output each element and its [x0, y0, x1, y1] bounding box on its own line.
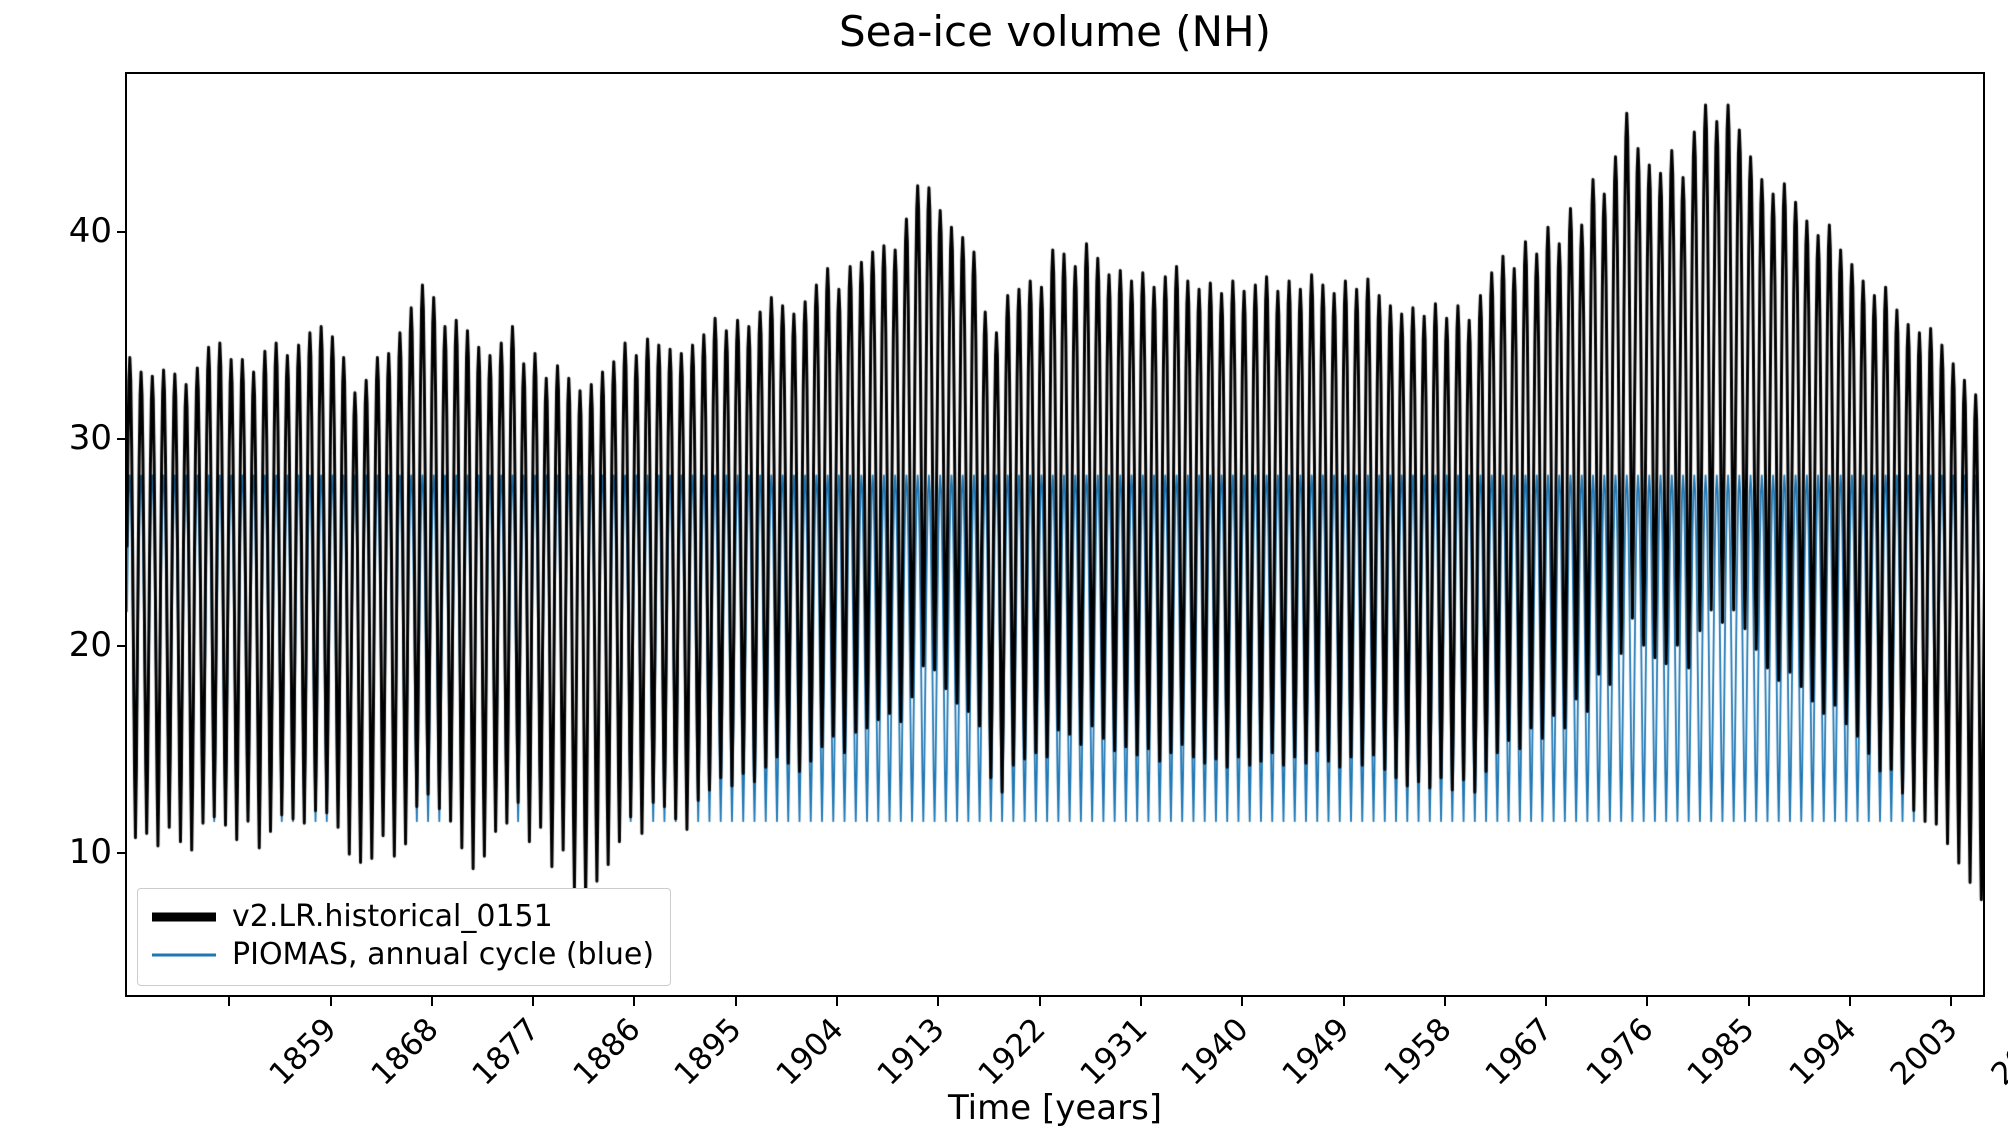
x-tick-label: 1940: [1175, 1012, 1255, 1092]
y-tick-label: 40: [0, 214, 112, 248]
y-tick-label: 20: [0, 628, 112, 662]
x-tick-mark: [228, 997, 230, 1006]
x-tick-mark: [330, 997, 332, 1006]
legend-line-swatch-0: [152, 905, 216, 929]
x-tick-mark: [1748, 997, 1750, 1006]
x-tick-label: 1859: [263, 1012, 343, 1092]
x-tick-label: 1949: [1276, 1012, 1356, 1092]
x-tick-mark: [1039, 997, 1041, 1006]
x-tick-label: 1967: [1479, 1012, 1559, 1092]
legend-item: v2.LR.historical_0151: [152, 898, 654, 936]
x-tick-mark: [1140, 997, 1142, 1006]
x-tick-label: 1913: [871, 1012, 951, 1092]
x-tick-mark: [633, 997, 635, 1006]
series-plot: [127, 74, 1983, 995]
x-tick-mark: [1950, 997, 1952, 1006]
legend-line-swatch-1: [152, 943, 216, 967]
x-tick-label: 2012: [1985, 1012, 2008, 1092]
x-tick-mark: [1343, 997, 1345, 1006]
legend: v2.LR.historical_0151 PIOMAS, annual cyc…: [137, 888, 671, 986]
y-tick-label: 10: [0, 835, 112, 869]
figure-canvas: Sea-ice volume (NH) [103 km3] 10203040 1…: [0, 0, 2008, 1141]
x-tick-mark: [836, 997, 838, 1006]
x-tick-label: 1931: [1074, 1012, 1154, 1092]
x-tick-label: 2003: [1884, 1012, 1964, 1092]
x-tick-mark: [1241, 997, 1243, 1006]
x-tick-mark: [1849, 997, 1851, 1006]
x-tick-label: 1958: [1378, 1012, 1458, 1092]
legend-item: PIOMAS, annual cycle (blue): [152, 936, 654, 974]
x-tick-mark: [431, 997, 433, 1006]
page-title: Sea-ice volume (NH): [125, 6, 1985, 58]
x-tick-label: 1877: [466, 1012, 546, 1092]
x-tick-label: 1895: [669, 1012, 749, 1092]
y-tick-label: 30: [0, 421, 112, 455]
x-tick-mark: [1545, 997, 1547, 1006]
legend-label: PIOMAS, annual cycle (blue): [232, 939, 654, 971]
x-tick-mark: [937, 997, 939, 1006]
x-tick-mark: [1444, 997, 1446, 1006]
x-tick-label: 1886: [567, 1012, 647, 1092]
x-tick-label: 1994: [1783, 1012, 1863, 1092]
legend-label: v2.LR.historical_0151: [232, 901, 553, 933]
x-tick-mark: [1646, 997, 1648, 1006]
x-tick-label: 1868: [365, 1012, 445, 1092]
x-tick-mark: [735, 997, 737, 1006]
x-tick-label: 1985: [1682, 1012, 1762, 1092]
x-axis-label: Time [years]: [125, 1088, 1985, 1128]
x-tick-mark: [532, 997, 534, 1006]
x-tick-label: 1904: [770, 1012, 850, 1092]
plot-area: [125, 72, 1985, 997]
x-tick-label: 1922: [972, 1012, 1052, 1092]
x-tick-label: 1976: [1580, 1012, 1660, 1092]
